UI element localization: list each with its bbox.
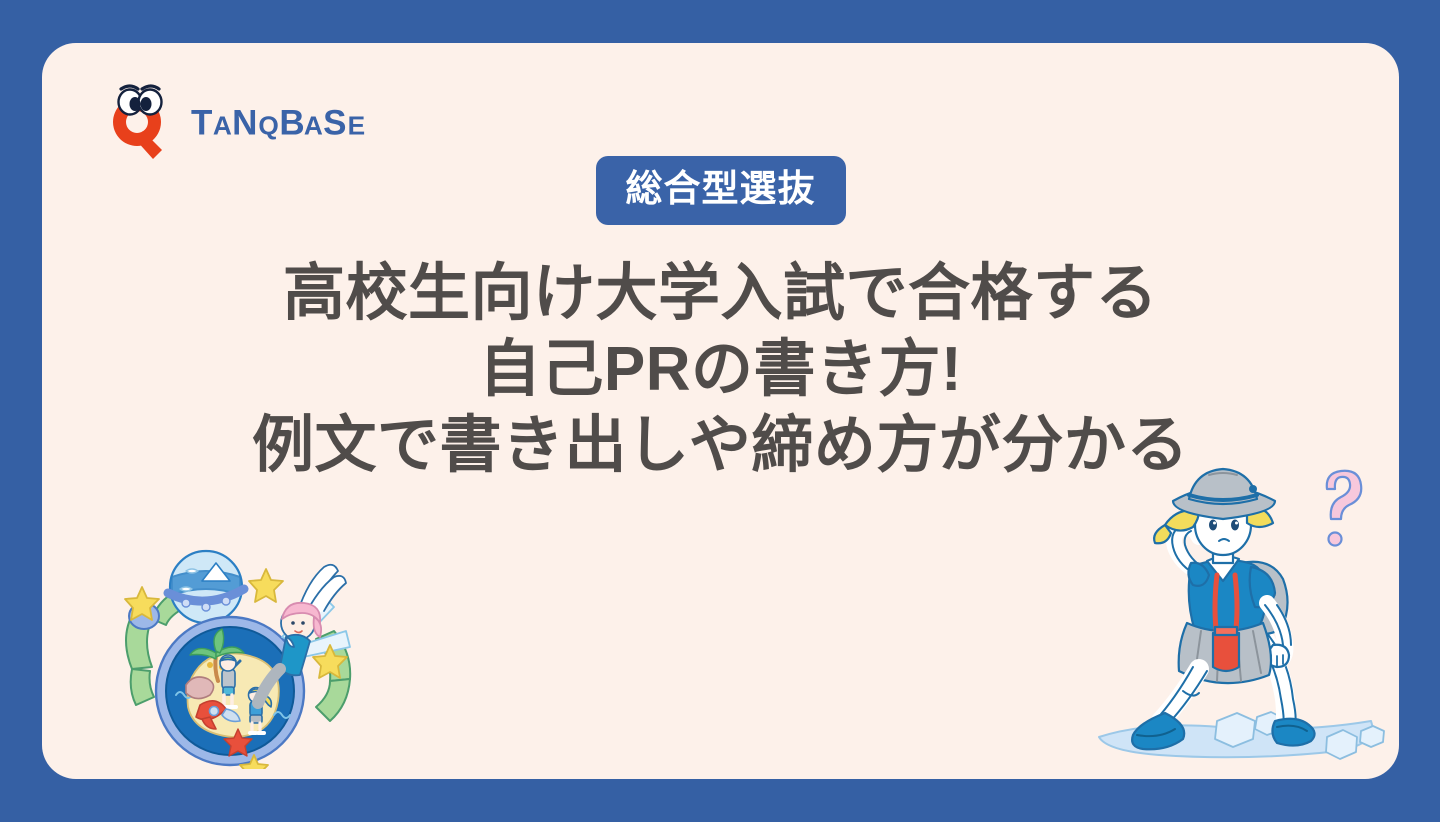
globe-island-diver-illustration [102,519,382,769]
title-line-1: 高校生向け大学入試で合格する [132,256,1309,332]
svg-text:E: E [348,110,366,140]
category-badge: 総合型選抜 [42,156,1399,225]
page-title: 高校生向け大学入試で合格する 自己PRの書き方! 例文で書き出しや締め方が分かる [132,256,1309,484]
tanqbase-q-mark-icon [99,81,177,163]
thumbnail-card: T A N Q B A S E 総合型選抜 高校生向け大学入試で合格する 自己P… [42,43,1399,779]
tanqbase-wordmark: T A N Q B A S E [191,101,394,143]
svg-text:S: S [323,103,346,142]
svg-text:T: T [191,103,212,142]
svg-text:A: A [213,110,232,140]
svg-text:B: B [279,103,304,142]
svg-text:Q: Q [258,110,278,140]
svg-text:N: N [232,103,257,142]
explorer-girl-illustration [1089,459,1389,779]
title-line-2: 自己PRの書き方! [132,332,1309,408]
category-badge-label: 総合型選抜 [596,156,846,225]
brand-logo[interactable]: T A N Q B A S E [99,81,394,163]
svg-text:A: A [304,110,323,140]
